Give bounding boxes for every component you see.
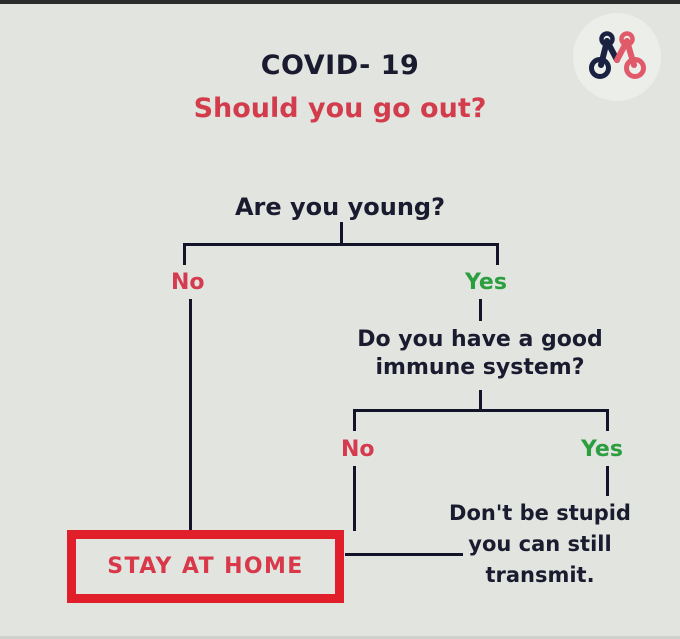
answer-q1-no: No (171, 270, 205, 295)
question-are-you-young: Are you young? (150, 193, 530, 221)
outcome-transmit-line1: Don't be stupid (425, 498, 655, 529)
question-immune-system-line2: immune system? (330, 354, 630, 382)
connector-q1-drop-right (496, 243, 499, 265)
outcome-transmit-line3: transmit. (425, 560, 655, 591)
answer-q1-yes: Yes (465, 270, 507, 295)
outcome-stay-at-home: STAY AT HOME (67, 530, 344, 603)
outcome-stay-at-home-label: STAY AT HOME (107, 554, 303, 579)
outcome-can-still-transmit: Don't be stupid you can still transmit. (425, 498, 655, 591)
question-immune-system-line1: Do you have a good (330, 326, 630, 354)
connector-q2-yes-to-outcome (606, 466, 609, 496)
answer-q2-no: No (341, 437, 375, 462)
connector-q2-drop-right (606, 409, 609, 431)
connector-q1-drop-left (183, 243, 186, 265)
connector-q1-stem (340, 222, 343, 244)
connector-q1-yes-to-q2 (479, 299, 482, 321)
connector-q2-bar (353, 409, 609, 412)
outcome-transmit-line2: you can still (425, 529, 655, 560)
connector-q1-bar (183, 243, 499, 246)
question-immune-system: Do you have a good immune system? (330, 326, 630, 382)
page-title: COVID- 19 (0, 50, 680, 81)
page-subtitle: Should you go out? (0, 93, 680, 124)
connector-q2-no-to-stayhome (353, 466, 356, 531)
connector-q2-stem (479, 390, 482, 410)
connector-q1-no-to-stayhome (189, 299, 192, 530)
answer-q2-yes: Yes (581, 437, 623, 462)
top-edge-strip (0, 0, 680, 4)
connector-q2-drop-left (353, 409, 356, 431)
flowchart-canvas: COVID- 19 Should you go out? Are you you… (0, 0, 680, 639)
